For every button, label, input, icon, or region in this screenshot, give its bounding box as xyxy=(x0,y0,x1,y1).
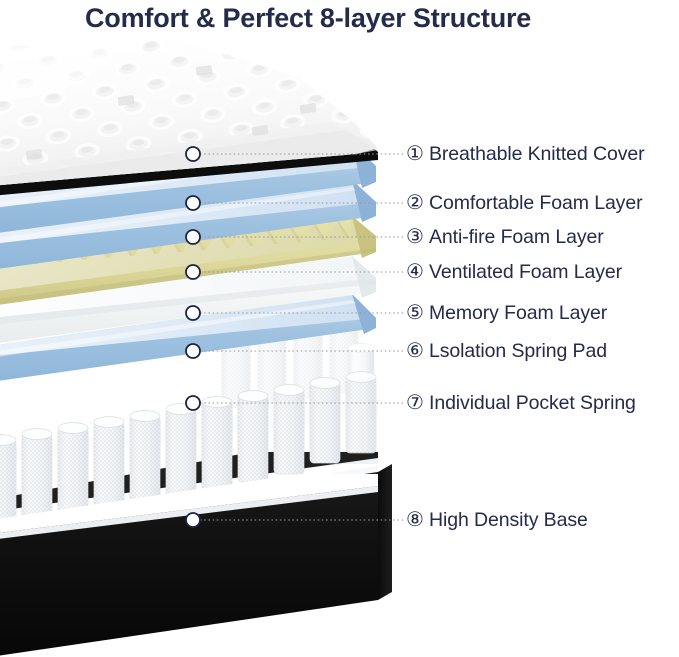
callout-label-4: Ventilated Foam Layer xyxy=(429,259,622,285)
mattress-exploded-diagram xyxy=(0,0,679,657)
callout-marker-2: ② xyxy=(406,190,429,216)
leader-dot-3 xyxy=(186,230,200,244)
callout-marker-5: ⑤ xyxy=(406,300,429,326)
callout-5-memory-foam-layer: ⑤Memory Foam Layer xyxy=(406,300,607,326)
leader-dot-6 xyxy=(186,344,200,358)
callout-2-comfortable-foam-layer: ②Comfortable Foam Layer xyxy=(406,190,642,216)
leader-dot-7 xyxy=(186,396,200,410)
callout-label-5: Memory Foam Layer xyxy=(429,300,607,326)
callout-marker-1: ① xyxy=(406,141,429,167)
mattress-layer-infographic: Comfort & Perfect 8-layer Structure xyxy=(0,0,679,657)
callout-label-2: Comfortable Foam Layer xyxy=(429,190,642,216)
callout-6-lsolation-spring-pad: ⑥Lsolation Spring Pad xyxy=(406,338,607,364)
callout-label-1: Breathable Knitted Cover xyxy=(429,141,644,167)
callout-4-ventilated-foam-layer: ④Ventilated Foam Layer xyxy=(406,259,622,285)
callout-marker-7: ⑦ xyxy=(406,390,429,416)
callout-label-6: Lsolation Spring Pad xyxy=(429,338,607,364)
callout-marker-4: ④ xyxy=(406,259,429,285)
leader-dot-1 xyxy=(186,147,200,161)
callout-8-high-density-base: ⑧High Density Base xyxy=(406,507,588,533)
callout-label-8: High Density Base xyxy=(429,507,588,533)
callout-1-breathable-knitted-cover: ①Breathable Knitted Cover xyxy=(406,141,644,167)
callout-label-3: Anti-fire Foam Layer xyxy=(429,224,604,250)
callout-marker-3: ③ xyxy=(406,224,429,250)
leader-dot-8 xyxy=(186,513,200,527)
leader-dot-4 xyxy=(186,265,200,279)
callout-label-7: Individual Pocket Spring xyxy=(429,390,636,416)
callout-marker-8: ⑧ xyxy=(406,507,429,533)
callout-7-individual-pocket-spring: ⑦Individual Pocket Spring xyxy=(406,390,636,416)
leader-dot-2 xyxy=(186,196,200,210)
callout-marker-6: ⑥ xyxy=(406,338,429,364)
leader-dot-5 xyxy=(186,306,200,320)
callout-3-anti-fire-foam-layer: ③Anti-fire Foam Layer xyxy=(406,224,604,250)
